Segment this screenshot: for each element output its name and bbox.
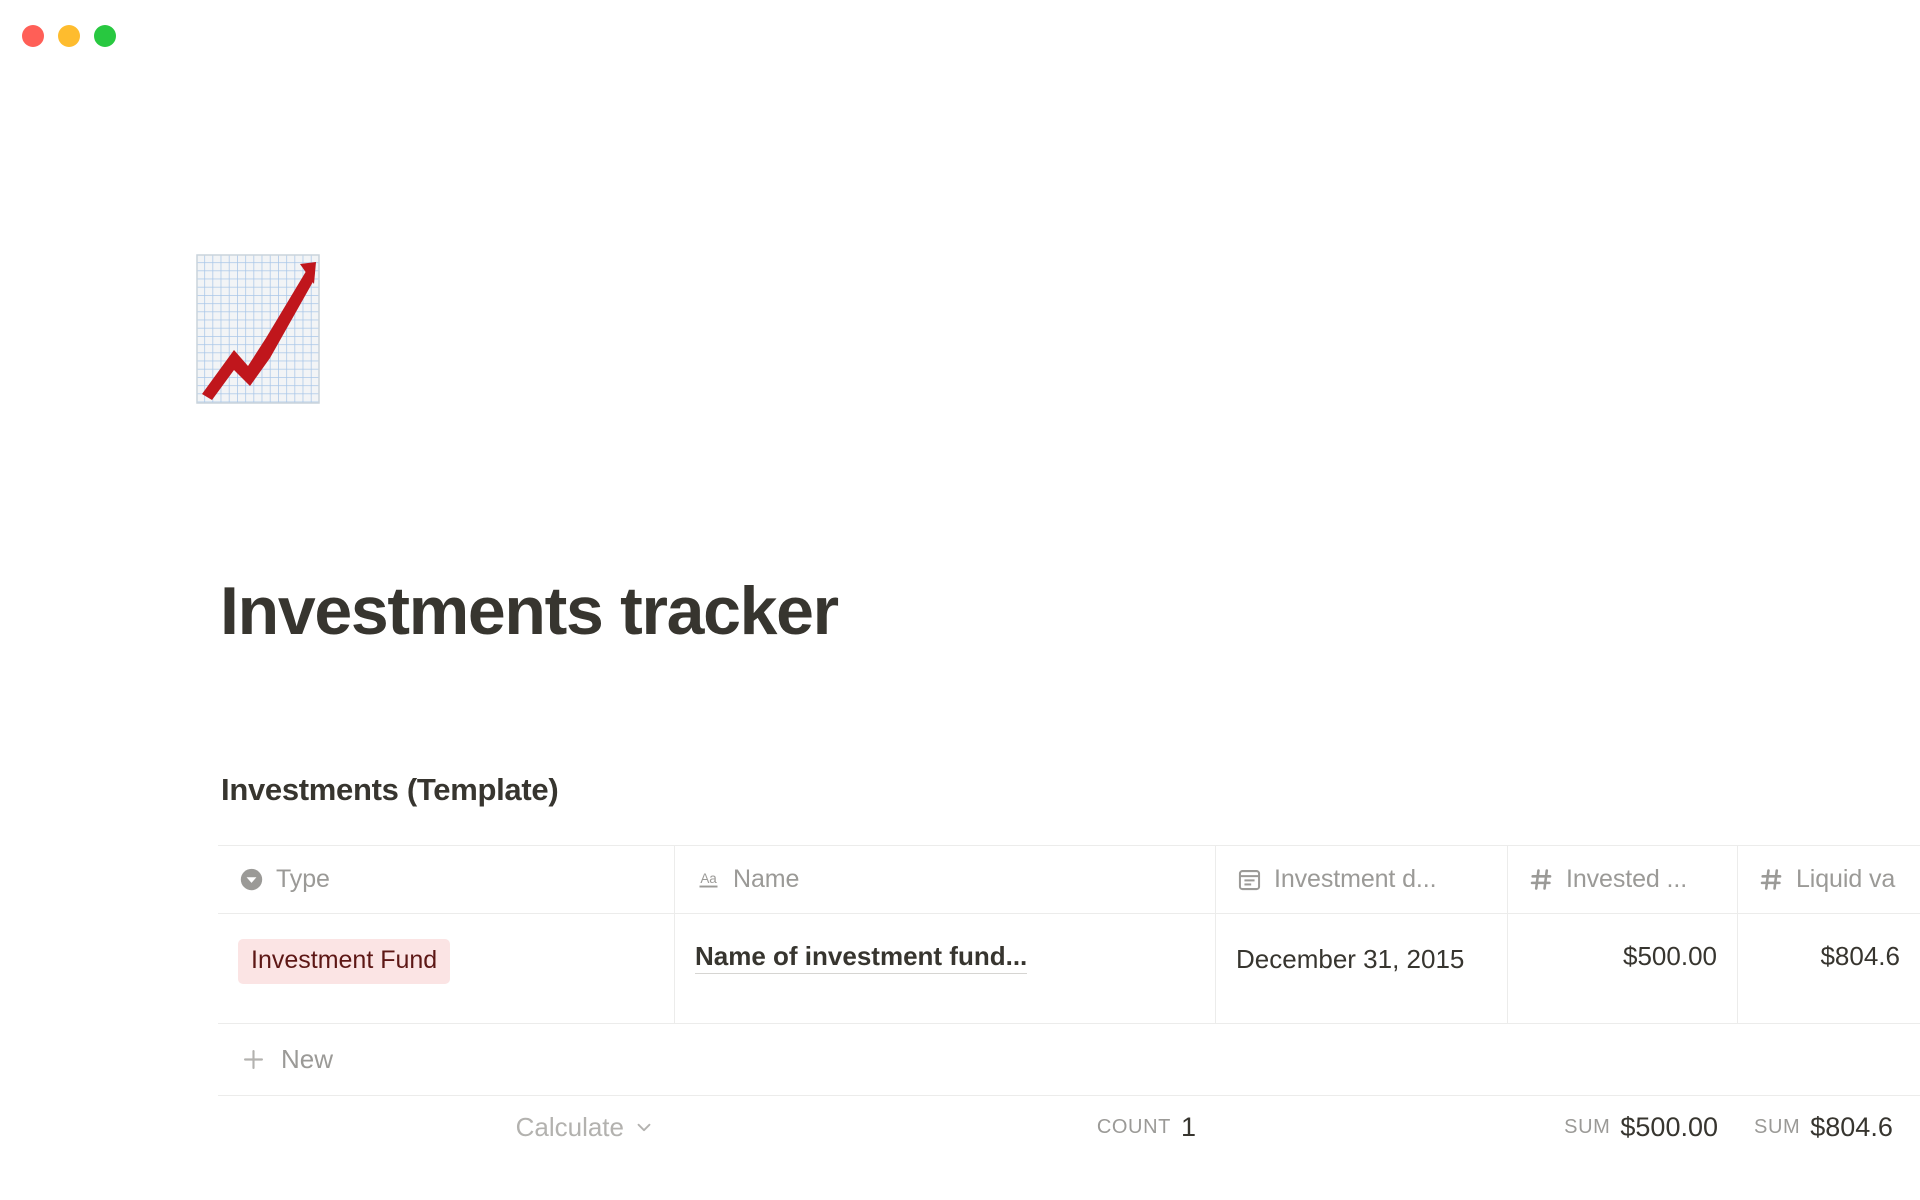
cell-liquid-value[interactable]: $804.6	[1738, 914, 1920, 1023]
minimize-window-button[interactable]	[58, 25, 80, 47]
column-header-invested[interactable]: Invested ...	[1508, 846, 1738, 913]
column-header-invested-label: Invested ...	[1566, 865, 1687, 894]
plus-icon	[240, 1046, 267, 1073]
chart-increasing-emoji-icon[interactable]	[196, 254, 320, 404]
column-header-type[interactable]: Type	[218, 846, 675, 913]
column-header-name[interactable]: Aa Name	[675, 846, 1216, 913]
column-header-investment-date[interactable]: Investment d...	[1216, 846, 1508, 913]
maximize-window-button[interactable]	[94, 25, 116, 47]
footer-count-name[interactable]: COUNT 1	[675, 1096, 1216, 1158]
page-title[interactable]: Investments tracker	[220, 571, 838, 651]
number-hash-icon	[1758, 866, 1785, 893]
number-hash-icon	[1528, 866, 1555, 893]
status-badge: Investment Fund	[238, 939, 450, 984]
table-header-row: Type Aa Name	[218, 845, 1920, 914]
column-header-type-label: Type	[276, 865, 330, 894]
footer-count-label: COUNT	[1097, 1116, 1171, 1139]
liquid-value: $804.6	[1820, 939, 1900, 973]
new-row-label: New	[281, 1044, 333, 1075]
close-window-button[interactable]	[22, 25, 44, 47]
column-header-liquid-value[interactable]: Liquid va	[1738, 846, 1920, 913]
footer-sum-liquid-value: $804.6	[1810, 1112, 1893, 1143]
footer-sum-liquid-label: SUM	[1754, 1116, 1800, 1139]
svg-text:Aa: Aa	[700, 871, 717, 886]
select-icon	[238, 866, 265, 893]
table-footer-row: Calculate COUNT 1 SUM $500.00 SUM $804.6	[218, 1096, 1920, 1158]
footer-sum-liquid[interactable]: SUM $804.6	[1738, 1096, 1920, 1158]
footer-count-value: 1	[1181, 1112, 1196, 1143]
invested-value: $500.00	[1623, 939, 1717, 973]
calculate-dropdown[interactable]: Calculate	[516, 1112, 655, 1143]
chevron-down-icon	[633, 1116, 655, 1138]
footer-sum-invested-value: $500.00	[1620, 1112, 1718, 1143]
new-row-button[interactable]: New	[218, 1024, 1920, 1096]
window-titlebar	[0, 0, 1920, 72]
calendar-icon	[1236, 866, 1263, 893]
traffic-light-buttons	[22, 25, 116, 47]
footer-calculate-type[interactable]: Calculate	[218, 1096, 675, 1158]
row-title-link[interactable]: Name of investment fund...	[695, 939, 1027, 974]
investment-date-value: December 31, 2015	[1236, 939, 1464, 980]
cell-investment-date[interactable]: December 31, 2015	[1216, 914, 1508, 1023]
table-row[interactable]: Investment Fund Name of investment fund.…	[218, 914, 1920, 1024]
cell-name[interactable]: Name of investment fund...	[675, 914, 1216, 1023]
cell-type[interactable]: Investment Fund	[218, 914, 675, 1023]
column-header-investment-date-label: Investment d...	[1274, 865, 1436, 894]
column-header-name-label: Name	[733, 865, 799, 894]
cell-invested[interactable]: $500.00	[1508, 914, 1738, 1023]
investments-table: Type Aa Name	[218, 845, 1920, 1158]
database-title[interactable]: Investments (Template)	[221, 770, 558, 810]
notion-page: Investments tracker Investments (Templat…	[0, 0, 1920, 1200]
footer-sum-invested[interactable]: SUM $500.00	[1508, 1096, 1738, 1158]
text-aa-icon: Aa	[695, 866, 722, 893]
calculate-label: Calculate	[516, 1112, 624, 1143]
footer-sum-invested-label: SUM	[1564, 1116, 1610, 1139]
column-header-liquid-value-label: Liquid va	[1796, 865, 1895, 894]
footer-date-empty[interactable]	[1216, 1096, 1508, 1158]
